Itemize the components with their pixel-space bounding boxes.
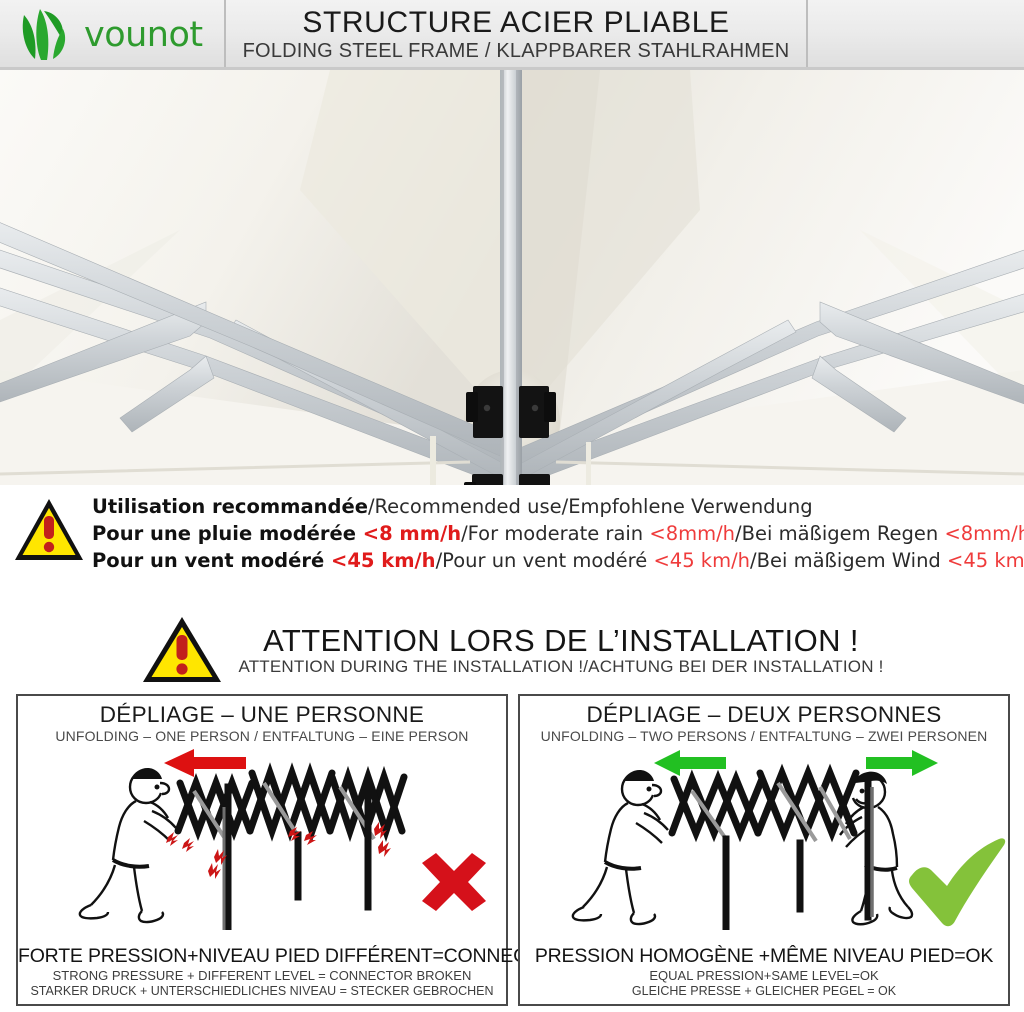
warning-line2-en-value: <8mm/h [649, 522, 735, 545]
panel-left-subtitle: UNFOLDING – ONE PERSON / ENTFALTUNG – EI… [18, 729, 506, 744]
panel-left-footer: FORTE PRESSION+NIVEAU PIED DIFFÉRENT=CON… [18, 946, 506, 1000]
warning-text-lines: Utilisation recommandée/Recommended use/… [92, 492, 1022, 574]
brand-logo: vounot [14, 6, 224, 64]
warning-line2-de-value: <8mm/h [944, 522, 1024, 545]
warning-line3-fr: Pour un vent modéré [92, 549, 331, 572]
warning-line3-de: /Bei mäßigem Wind [750, 549, 947, 572]
green-double-arrow-icon [654, 750, 938, 776]
red-cross-icon [422, 853, 486, 911]
warning-triangle-icon [140, 614, 224, 688]
warning-line3-de-value: <45 km/h [947, 549, 1024, 572]
person-figure-left [573, 770, 668, 924]
attention-banner: ATTENTION LORS DE L’INSTALLATION ! ATTEN… [0, 612, 1024, 690]
warning-line3-en: /Pour un vent modéré [436, 549, 654, 572]
panel-right-subtitle: UNFOLDING – TWO PERSONS / ENTFALTUNG – Z… [520, 729, 1008, 744]
warning-line2-fr-value: <8 mm/h [363, 522, 461, 545]
panel-right-footer: PRESSION HOMOGÈNE +MÊME NIVEAU PIED=OK E… [520, 946, 1008, 1000]
panel-two-persons: DÉPLIAGE – DEUX PERSONNES UNFOLDING – TW… [518, 694, 1010, 1006]
warning-line2-de: /Bei mäßigem Regen [735, 522, 944, 545]
recommended-use-warning: Utilisation recommandée/Recommended use/… [0, 492, 1024, 590]
leaf-logo-icon [14, 7, 76, 63]
canopy-photo-illustration [0, 70, 1024, 485]
panel-right-footer-fr: PRESSION HOMOGÈNE +MÊME NIVEAU PIED=OK [520, 946, 1008, 968]
panel-right-footer-en: EQUAL PRESSION+SAME LEVEL=OK [520, 968, 1008, 984]
warning-line2-en: /For moderate rain [461, 522, 649, 545]
warning-line3-en-value: <45 km/h [653, 549, 750, 572]
header-divider-right [806, 0, 808, 70]
warning-line1-rest: /Recommended use/Empfohlene Verwendung [368, 495, 813, 518]
red-left-arrow-icon [164, 749, 246, 777]
panel-one-person: DÉPLIAGE – UNE PERSONNE UNFOLDING – ONE … [16, 694, 508, 1006]
panel-left-footer-en: STRONG PRESSURE + DIFFERENT LEVEL = CONN… [18, 968, 506, 984]
warning-line1-fr: Utilisation recommandée [92, 495, 368, 518]
attention-title: ATTENTION LORS DE L’INSTALLATION ! [263, 625, 859, 658]
warning-line3-fr-value: <45 km/h [331, 549, 436, 572]
canopy-photo [0, 70, 1024, 485]
instruction-panels: DÉPLIAGE – UNE PERSONNE UNFOLDING – ONE … [0, 694, 1024, 1012]
panel-left-illustration [18, 747, 506, 930]
panel-right-title: DÉPLIAGE – DEUX PERSONNES [520, 703, 1008, 727]
brand-name: vounot [84, 18, 203, 53]
panel-left-footer-fr: FORTE PRESSION+NIVEAU PIED DIFFÉRENT=CON… [18, 946, 506, 968]
warning-line-1: Utilisation recommandée/Recommended use/… [92, 494, 1022, 520]
warning-line-3: Pour un vent modéré <45 km/h/Pour un ven… [92, 548, 1022, 574]
person-figure [80, 768, 176, 922]
attention-subtitle: ATTENTION DURING THE INSTALLATION !/ACHT… [238, 658, 883, 677]
page-title: STRUCTURE ACIER PLIABLE [302, 7, 729, 39]
panel-right-illustration [520, 747, 1008, 930]
page-subtitle: FOLDING STEEL FRAME / KLAPPBARER STAHLRA… [243, 40, 790, 63]
green-check-icon [909, 838, 1005, 926]
panel-left-footer-de: STARKER DRUCK + UNTERSCHIEDLICHES NIVEAU… [18, 984, 506, 1000]
product-infographic-page: vounot STRUCTURE ACIER PLIABLE FOLDING S… [0, 0, 1024, 1012]
header-title-group: STRUCTURE ACIER PLIABLE FOLDING STEEL FR… [226, 0, 806, 70]
warning-line-2: Pour une pluie modérée <8 mm/h/For moder… [92, 521, 1022, 547]
warning-line2-fr: Pour une pluie modérée [92, 522, 363, 545]
warning-triangle-icon [12, 496, 86, 566]
panel-right-footer-de: GLEICHE PRESSE + GLEICHER PEGEL = OK [520, 984, 1008, 1000]
header-bar: vounot STRUCTURE ACIER PLIABLE FOLDING S… [0, 0, 1024, 70]
panel-left-title: DÉPLIAGE – UNE PERSONNE [18, 703, 506, 727]
